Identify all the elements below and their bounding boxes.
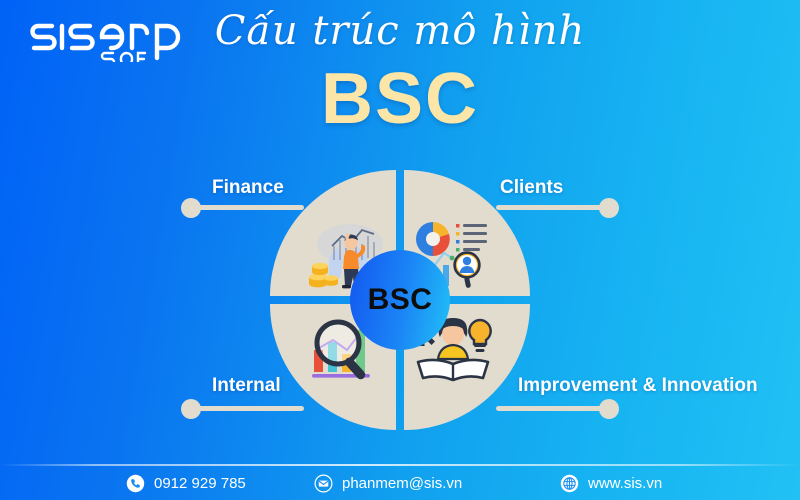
footer-email[interactable]: phanmem@sis.vn — [314, 474, 462, 493]
page-title: BSC — [0, 58, 800, 140]
footer-email-text: phanmem@sis.vn — [342, 475, 462, 492]
diagram-center-hub[interactable]: BSC — [350, 250, 450, 350]
footer-phone[interactable]: 0912 929 785 — [126, 474, 246, 493]
quadrant-label-improvement: Improvement & Innovation — [518, 375, 758, 397]
globe-icon — [560, 474, 579, 493]
connector-dot-internal — [181, 399, 201, 419]
phone-icon — [126, 474, 145, 493]
footer-contact-bar: 0912 929 785 phanmem@sis.vn www.sis.vn — [0, 466, 800, 500]
envelope-icon — [314, 474, 333, 493]
connector-dot-finance — [181, 198, 201, 218]
bsc-quadrant-diagram: BSC — [270, 170, 530, 430]
footer-phone-text: 0912 929 785 — [154, 475, 246, 492]
footer-website-text: www.sis.vn — [588, 475, 662, 492]
footer-website[interactable]: www.sis.vn — [560, 474, 662, 493]
diagram-center-label: BSC — [368, 283, 433, 317]
page-subtitle-script: Cấu trúc mô hình — [0, 8, 800, 54]
poster-canvas: Cấu trúc mô hình BSC Finance Clients Int… — [0, 0, 800, 500]
